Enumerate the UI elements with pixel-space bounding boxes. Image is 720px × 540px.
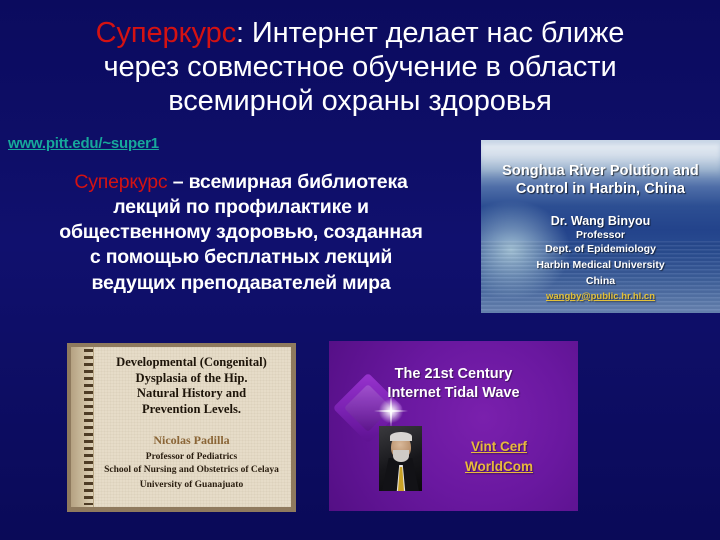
songhua-title-line-1: Songhua River Polution and [481,162,720,180]
tidal-title-line-2: Internet Tidal Wave [329,384,578,403]
page-title: Суперкурс: Интернет делает нас ближе чер… [0,17,720,119]
ddh-title-line-4: Prevention Levels. [95,402,288,418]
body-line-2: лекций по профилактике и [6,195,476,220]
notebook-spiral-rings-icon [84,349,93,505]
portrait-beard [393,450,409,462]
title-line-3: всемирной охраны здоровья [0,85,720,119]
ddh-title-line-3: Natural History and [95,386,288,402]
songhua-title-line-2: Control in Harbin, China [481,180,720,198]
songhua-role: Professor [481,229,720,241]
ddh-affiliation-2: University of Guanajuato [95,479,288,492]
songhua-affiliation-1: Dept. of Epidemiology [481,243,720,257]
tidal-title: The 21st Century Internet Tidal Wave [329,365,578,403]
thumbnail-internet-tidal-wave-lecture[interactable]: The 21st Century Internet Tidal Wave Vin… [329,341,578,511]
ddh-role: Professor of Pediatrics [95,452,288,462]
thumbnail-songhua-river-lecture[interactable]: Songhua River Polution and Control in Ha… [481,140,720,313]
presentation-slide: Суперкурс: Интернет делает нас ближе чер… [0,0,720,540]
ddh-title-line-2: Dysplasia of the Hip. [95,371,288,387]
body-line-1-rest: – всемирная библиотека [168,171,408,193]
songhua-presenter: Dr. Wang Binyou [481,214,720,228]
title-line-1-rest: : Интернет делает нас ближе [236,17,624,49]
body-keyword: Суперкурс [74,171,167,193]
portrait-hair [390,432,412,441]
body-paragraph: Суперкурс – всемирная библиотека лекций … [6,170,476,296]
title-keyword: Суперкурс [96,17,236,49]
ddh-affiliation-1: School of Nursing and Obstetrics of Cela… [95,464,288,477]
ddh-author: Nicolas Padilla [95,433,288,448]
ddh-title-line-1: Developmental (Congenital) [95,355,288,371]
website-url-link[interactable]: www.pitt.edu/~super1 [8,135,159,152]
body-line-5: ведущих преподавателей мира [6,271,476,296]
body-line-4: с помощью бесплатных лекций [6,245,476,270]
songhua-email-link[interactable]: wangby@public.hr.hl.cn [481,291,720,302]
body-line-1: Суперкурс – всемирная библиотека [6,170,476,195]
tidal-credits: Vint Cerf WorldCom [429,437,569,478]
songhua-affiliation-2: Harbin Medical University [481,259,720,273]
title-line-1: Суперкурс: Интернет делает нас ближе [0,17,720,51]
thumbnail-hip-dysplasia-lecture[interactable]: Developmental (Congenital) Dysplasia of … [67,343,296,512]
songhua-title: Songhua River Polution and Control in Ha… [481,162,720,198]
title-line-2: через совместное обучение в области [0,51,720,85]
ddh-title: Developmental (Congenital) Dysplasia of … [95,355,288,418]
tidal-title-line-1: The 21st Century [329,365,578,384]
tidal-credit-org[interactable]: WorldCom [429,457,569,477]
songhua-affiliation-3: China [481,275,720,289]
vint-cerf-portrait-photo [379,426,422,491]
tidal-credit-name[interactable]: Vint Cerf [429,437,569,457]
body-line-3: общественному здоровью, созданная [6,220,476,245]
